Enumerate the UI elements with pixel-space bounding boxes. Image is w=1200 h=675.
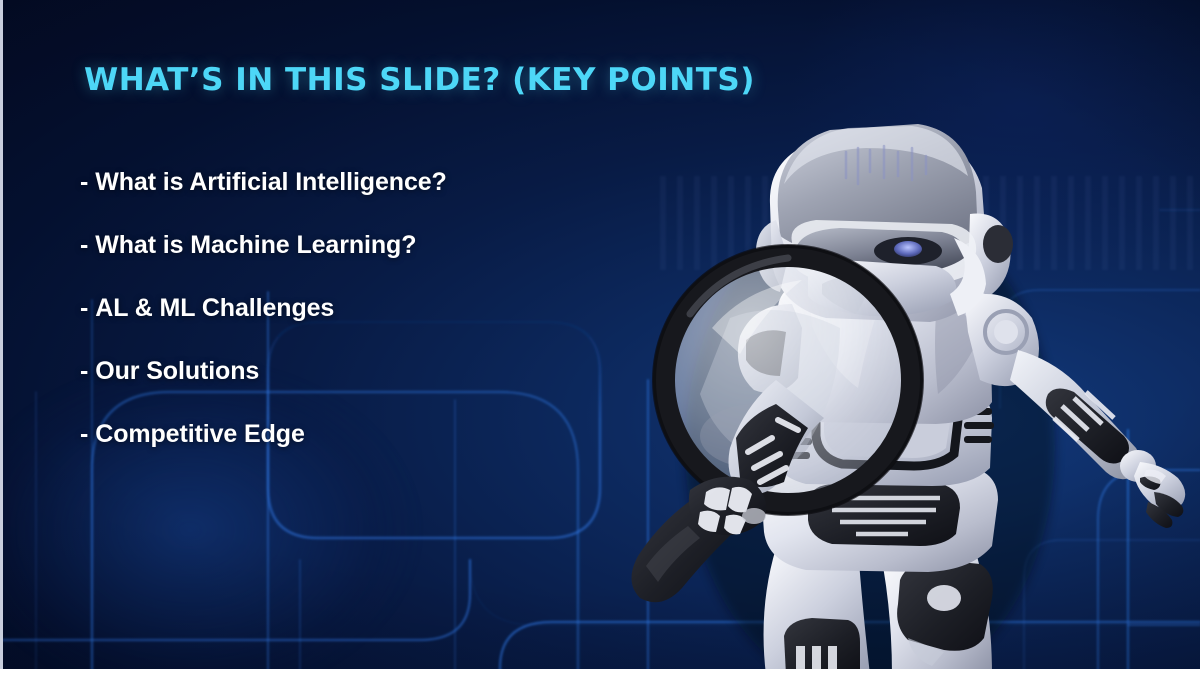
bullet-dash: -	[80, 231, 88, 259]
list-item: -AL & ML Challenges	[80, 294, 680, 323]
bullet-text: What is Artificial Intelligence?	[95, 168, 447, 196]
bullet-dash: -	[80, 357, 88, 385]
bullet-text: Our Solutions	[95, 357, 259, 385]
bullet-dash: -	[80, 168, 88, 196]
bullet-dash: -	[80, 294, 88, 322]
key-points-list: -What is Artificial Intelligence? -What …	[80, 168, 680, 483]
slide-left-edge	[0, 0, 3, 675]
slide-bottom-edge	[0, 669, 1200, 675]
list-item: -Competitive Edge	[80, 420, 680, 449]
bullet-text: AL & ML Challenges	[95, 294, 334, 322]
slide-canvas: WHAT’S IN THIS SLIDE? (KEY POINTS) -What…	[0, 0, 1200, 675]
bullet-text: Competitive Edge	[95, 420, 305, 448]
list-item: -What is Machine Learning?	[80, 231, 680, 260]
bullet-text: What is Machine Learning?	[95, 231, 416, 259]
list-item: -What is Artificial Intelligence?	[80, 168, 680, 197]
bullet-dash: -	[80, 420, 88, 448]
slide-title: WHAT’S IN THIS SLIDE? (KEY POINTS)	[84, 62, 755, 98]
list-item: -Our Solutions	[80, 357, 680, 386]
